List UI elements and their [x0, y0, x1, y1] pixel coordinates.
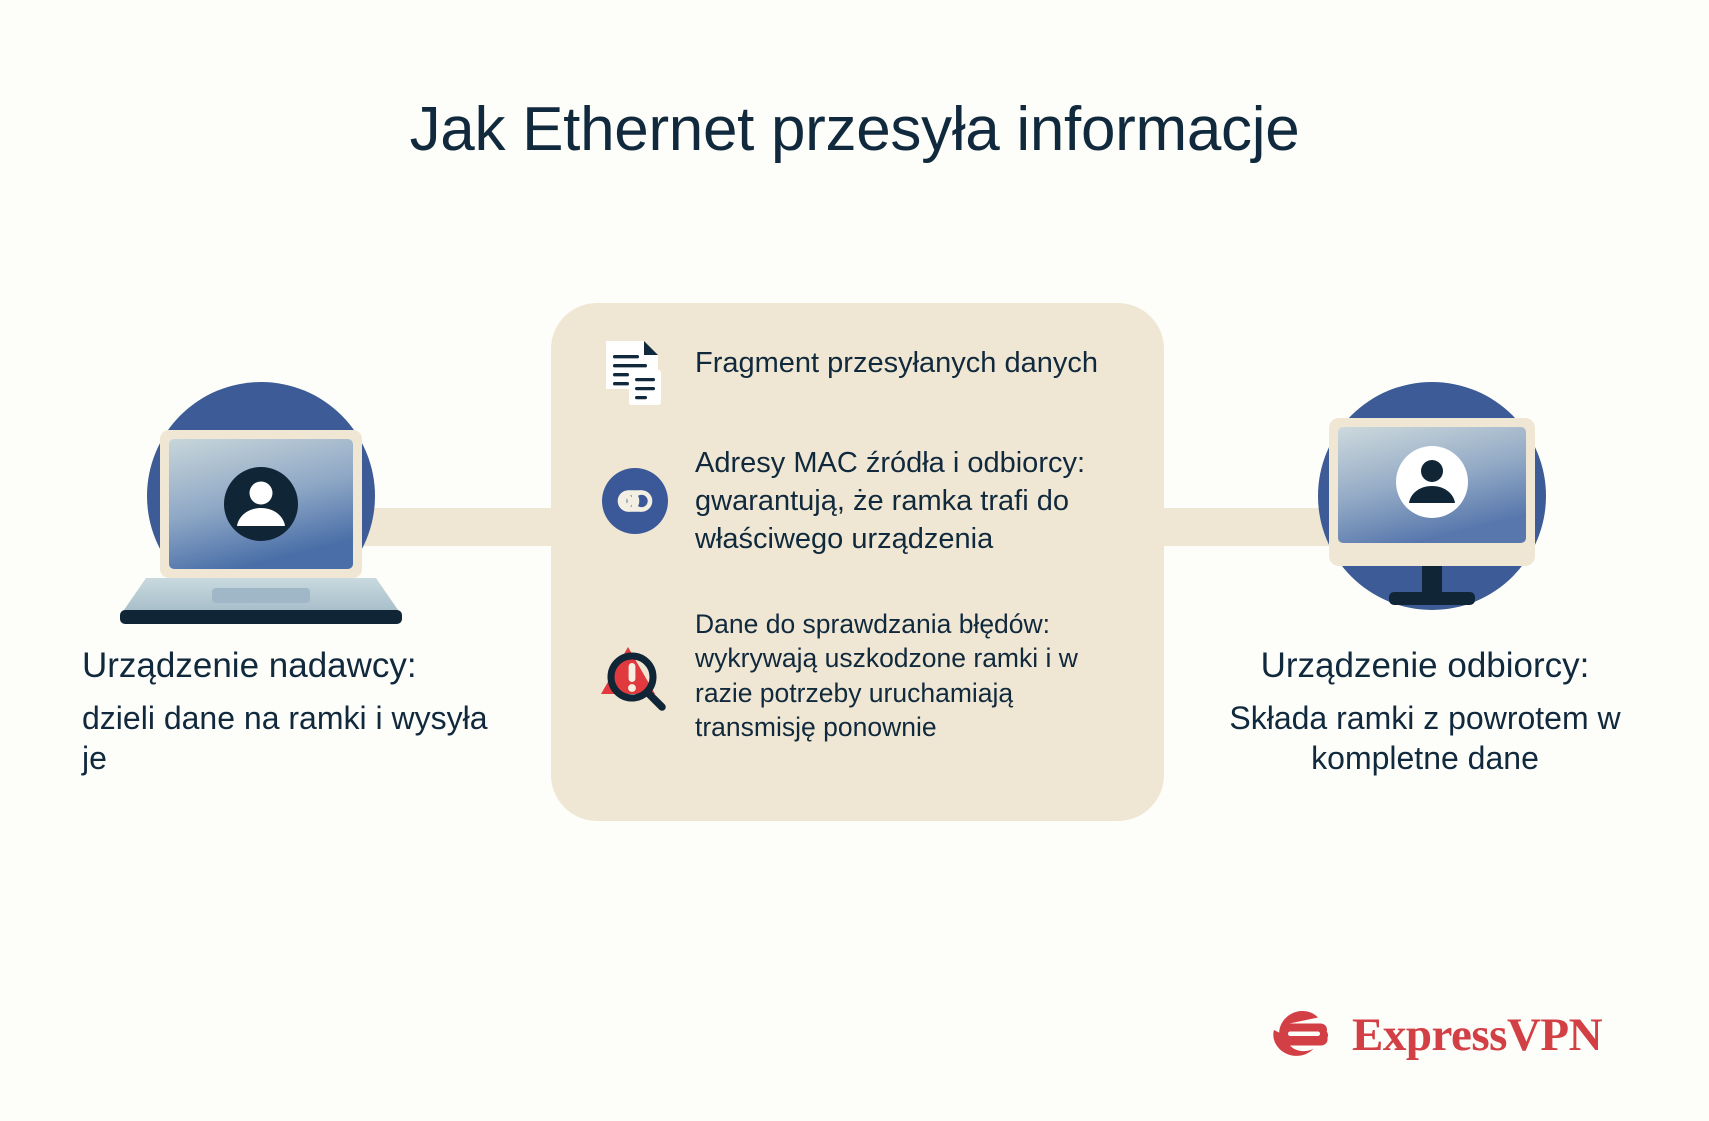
bullet-error-checking: Dane do sprawdzania błędów: wykrywają us…	[597, 605, 1130, 745]
warning-magnifier-icon	[598, 638, 672, 712]
page-title: Jak Ethernet przesyła informacje	[0, 96, 1709, 164]
bullet-2-icon-wrap	[597, 468, 673, 534]
bullet-2-text: Adresy MAC źródła i odbiorcy: gwarantują…	[695, 443, 1130, 559]
sender-disc	[147, 382, 375, 610]
frame-contents-card: Fragment przesyłanych danych Adresy MAC …	[551, 303, 1164, 821]
bullet-3-icon-wrap	[597, 638, 673, 712]
sender-subtext: dzieli dane na ramki i wysyła je	[30, 699, 500, 778]
sender-device-group: Urządzenie nadawcy: dzieli dane na ramki…	[30, 382, 500, 779]
expressvpn-wordmark: ExpressVPN	[1352, 1012, 1602, 1059]
expressvpn-e-mark-icon	[1272, 1008, 1338, 1062]
receiver-disc	[1318, 382, 1546, 610]
infographic-root: Jak Ethernet przesyła informacje	[0, 0, 1709, 1121]
expressvpn-logo: ExpressVPN	[1272, 1008, 1602, 1062]
monitor-user-icon	[1307, 410, 1557, 630]
bullet-1-text: Fragment przesyłanych danych	[695, 339, 1098, 383]
laptop-user-icon	[116, 420, 406, 670]
document-pages-icon	[604, 339, 666, 407]
bullet-1-icon-wrap	[597, 339, 673, 407]
bullet-data-fragment: Fragment przesyłanych danych	[597, 339, 1130, 407]
receiver-subtext: Składa ramki z powrotem w kompletne dane	[1190, 699, 1660, 778]
bullet-mac-addresses: Adresy MAC źródła i odbiorcy: gwarantują…	[597, 443, 1130, 559]
chain-link-icon	[602, 468, 668, 534]
bullet-3-text: Dane do sprawdzania błędów: wykrywają us…	[695, 605, 1130, 745]
receiver-caption: Urządzenie odbiorcy:	[1190, 646, 1660, 685]
receiver-device-group: Urządzenie odbiorcy: Składa ramki z powr…	[1190, 382, 1660, 779]
